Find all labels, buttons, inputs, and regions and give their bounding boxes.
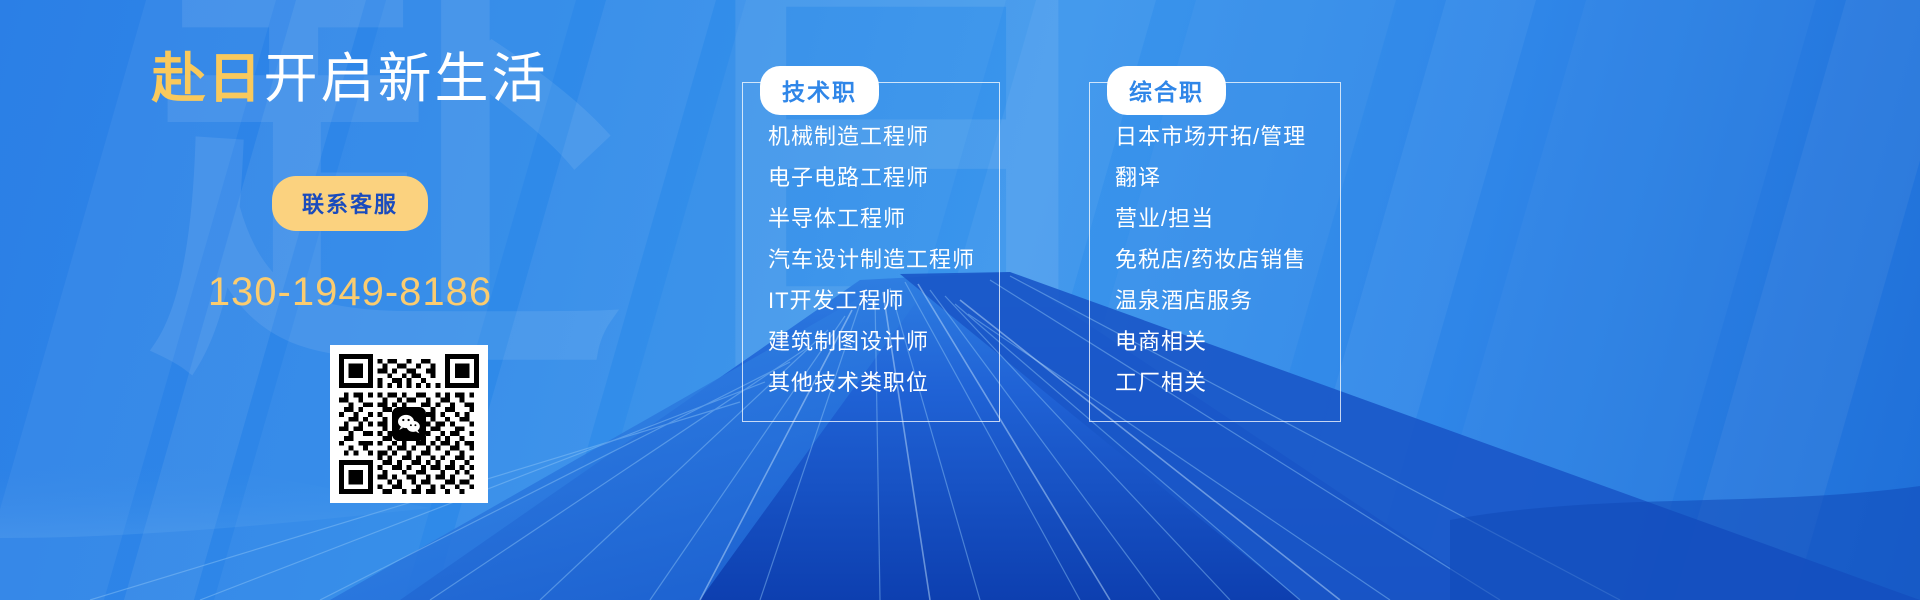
list-item[interactable]: 建筑制图设计师 xyxy=(768,321,975,362)
list-item[interactable]: 翻译 xyxy=(1115,157,1306,198)
list-item[interactable]: IT开发工程师 xyxy=(768,280,975,321)
panel-title-general[interactable]: 综合职 xyxy=(1107,66,1226,115)
list-item[interactable]: 温泉酒店服务 xyxy=(1115,280,1306,321)
list-item[interactable]: 电商相关 xyxy=(1115,321,1306,362)
job-list-general: 日本市场开拓/管理 翻译 营业/担当 免税店/药妆店销售 温泉酒店服务 电商相关… xyxy=(1115,116,1306,403)
list-item[interactable]: 日本市场开拓/管理 xyxy=(1115,116,1306,157)
wechat-qr-code[interactable] xyxy=(330,345,488,503)
headline-highlight: 赴日 xyxy=(152,49,264,109)
wechat-logo-icon xyxy=(392,407,426,441)
phone-number[interactable]: 130-1949-8186 xyxy=(0,270,700,315)
qr-code-container xyxy=(330,345,488,503)
headline-rest: 开启新生活 xyxy=(264,49,549,109)
list-item[interactable]: 其他技术类职位 xyxy=(768,362,975,403)
list-item[interactable]: 营业/担当 xyxy=(1115,198,1306,239)
list-item[interactable]: 工厂相关 xyxy=(1115,362,1306,403)
panel-title-technical[interactable]: 技术职 xyxy=(760,66,879,115)
page-title: 赴日开启新生活 xyxy=(0,48,700,110)
list-item[interactable]: 机械制造工程师 xyxy=(768,116,975,157)
left-content-column: 赴日开启新生活 联系客服 130-1949-8186 xyxy=(0,0,700,600)
list-item[interactable]: 汽车设计制造工程师 xyxy=(768,239,975,280)
list-item[interactable]: 电子电路工程师 xyxy=(768,157,975,198)
promo-banner: 赴日 xyxy=(0,0,1920,600)
cta-container: 联系客服 xyxy=(0,176,700,231)
job-list-technical: 机械制造工程师 电子电路工程师 半导体工程师 汽车设计制造工程师 IT开发工程师… xyxy=(768,116,975,403)
list-item[interactable]: 半导体工程师 xyxy=(768,198,975,239)
list-item[interactable]: 免税店/药妆店销售 xyxy=(1115,239,1306,280)
contact-support-button[interactable]: 联系客服 xyxy=(272,176,428,231)
